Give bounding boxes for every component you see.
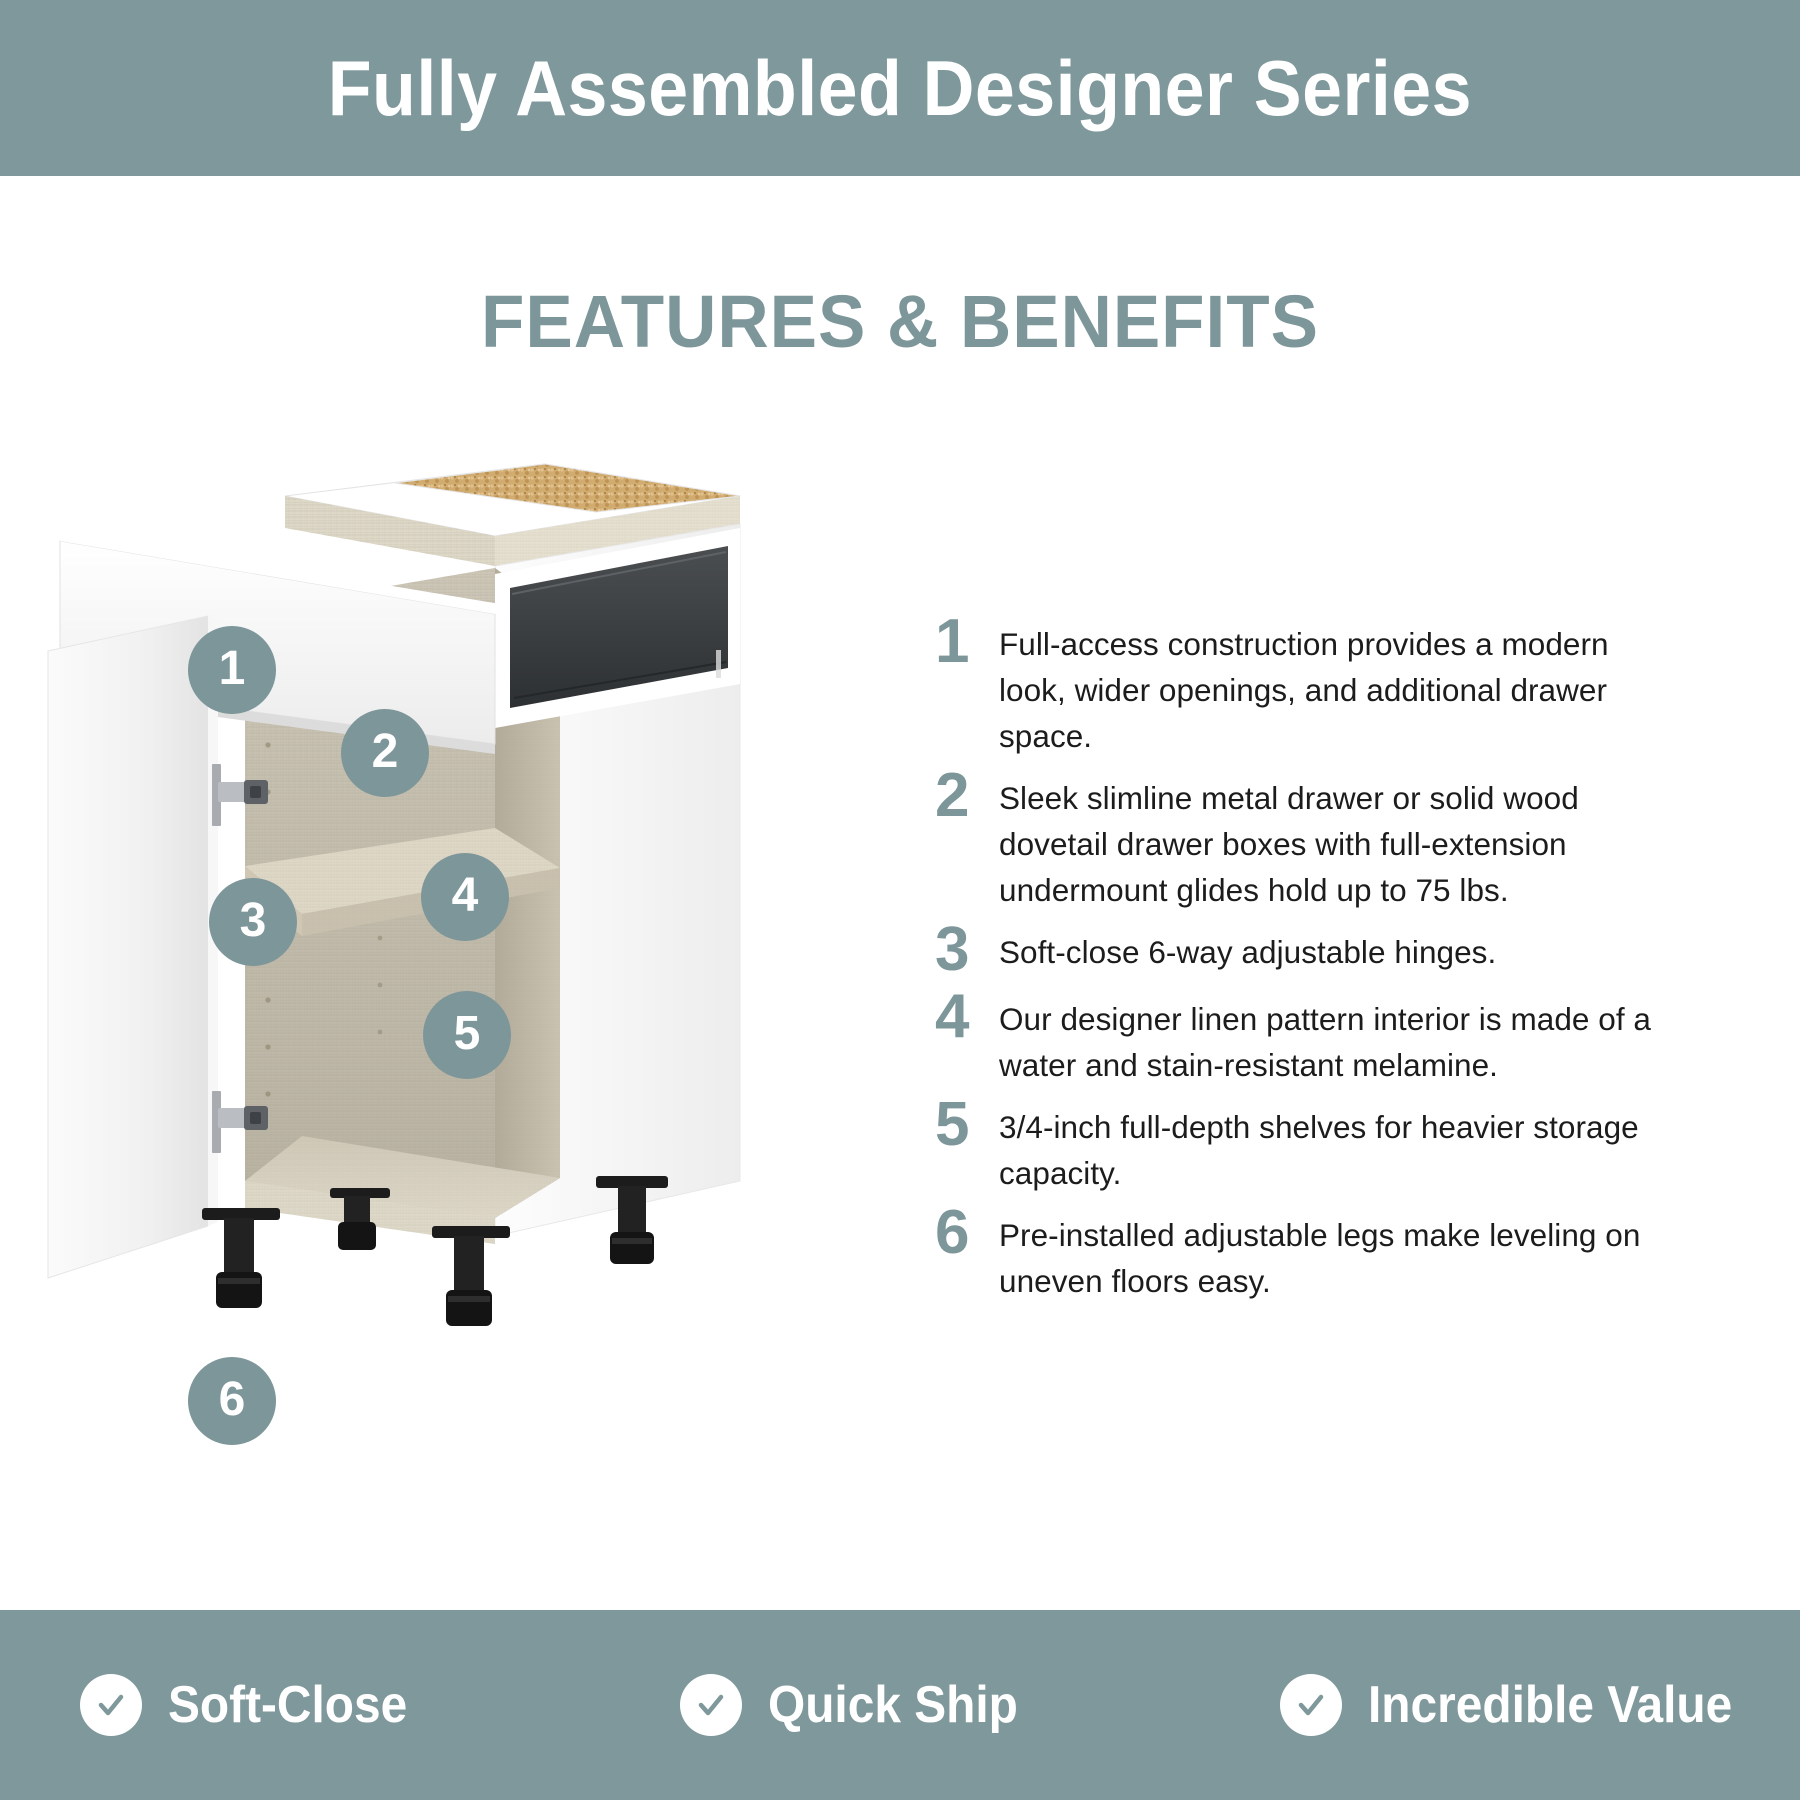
feature-description: Full-access construction provides a mode… <box>999 621 1665 759</box>
check-circle-icon <box>80 1674 142 1736</box>
callout-badge-6: 6 <box>188 1357 276 1445</box>
callout-number: 3 <box>240 897 267 945</box>
feature-number: 5 <box>935 1096 999 1155</box>
features-list: 1 Full-access construction provides a mo… <box>935 621 1665 1320</box>
callout-number: 1 <box>219 645 246 693</box>
feature-number: 1 <box>935 613 999 672</box>
callout-number: 6 <box>219 1376 246 1424</box>
callout-badge-3: 3 <box>209 878 297 966</box>
footer-bar: Soft-Close Quick Ship Incredible Value <box>0 1610 1800 1800</box>
callout-number: 5 <box>454 1010 481 1058</box>
feature-item: 1 Full-access construction provides a mo… <box>935 621 1665 759</box>
callout-badge-1: 1 <box>188 626 276 714</box>
footer-benefit-label: Soft-Close <box>168 1679 407 1731</box>
feature-number: 4 <box>935 988 999 1047</box>
feature-item: 4 Our designer linen pattern interior is… <box>935 996 1665 1088</box>
footer-benefit-soft-close: Soft-Close <box>0 1674 600 1736</box>
feature-description: 3/4-inch full-depth shelves for heavier … <box>999 1104 1665 1196</box>
feature-description: Our designer linen pattern interior is m… <box>999 996 1665 1088</box>
callout-badge-4: 4 <box>421 853 509 941</box>
callout-number: 2 <box>372 728 399 776</box>
feature-description: Soft-close 6-way adjustable hinges. <box>999 929 1665 975</box>
page-title: Fully Assembled Designer Series <box>328 49 1472 127</box>
callout-badge-2: 2 <box>341 709 429 797</box>
check-circle-icon <box>1280 1674 1342 1736</box>
header-bar: Fully Assembled Designer Series <box>0 0 1800 176</box>
feature-number: 6 <box>935 1204 999 1263</box>
feature-item: 6 Pre-installed adjustable legs make lev… <box>935 1212 1665 1304</box>
footer-benefit-label: Incredible Value <box>1368 1679 1732 1731</box>
feature-number: 3 <box>935 921 999 980</box>
footer-benefit-incredible-value: Incredible Value <box>1200 1674 1800 1736</box>
feature-item: 2 Sleek slimline metal drawer or solid w… <box>935 775 1665 913</box>
callout-number: 4 <box>452 872 479 920</box>
feature-description: Sleek slimline metal drawer or solid woo… <box>999 775 1665 913</box>
feature-number: 2 <box>935 767 999 826</box>
callout-badge-5: 5 <box>423 991 511 1079</box>
feature-item: 5 3/4-inch full-depth shelves for heavie… <box>935 1104 1665 1196</box>
check-circle-icon <box>680 1674 742 1736</box>
footer-benefit-label: Quick Ship <box>768 1679 1018 1731</box>
footer-benefit-quick-ship: Quick Ship <box>600 1674 1200 1736</box>
content-stage: 1 2 3 4 5 6 1 Full-access construction p… <box>0 176 1800 1600</box>
feature-description: Pre-installed adjustable legs make level… <box>999 1212 1665 1304</box>
feature-item: 3 Soft-close 6-way adjustable hinges. <box>935 929 1665 980</box>
